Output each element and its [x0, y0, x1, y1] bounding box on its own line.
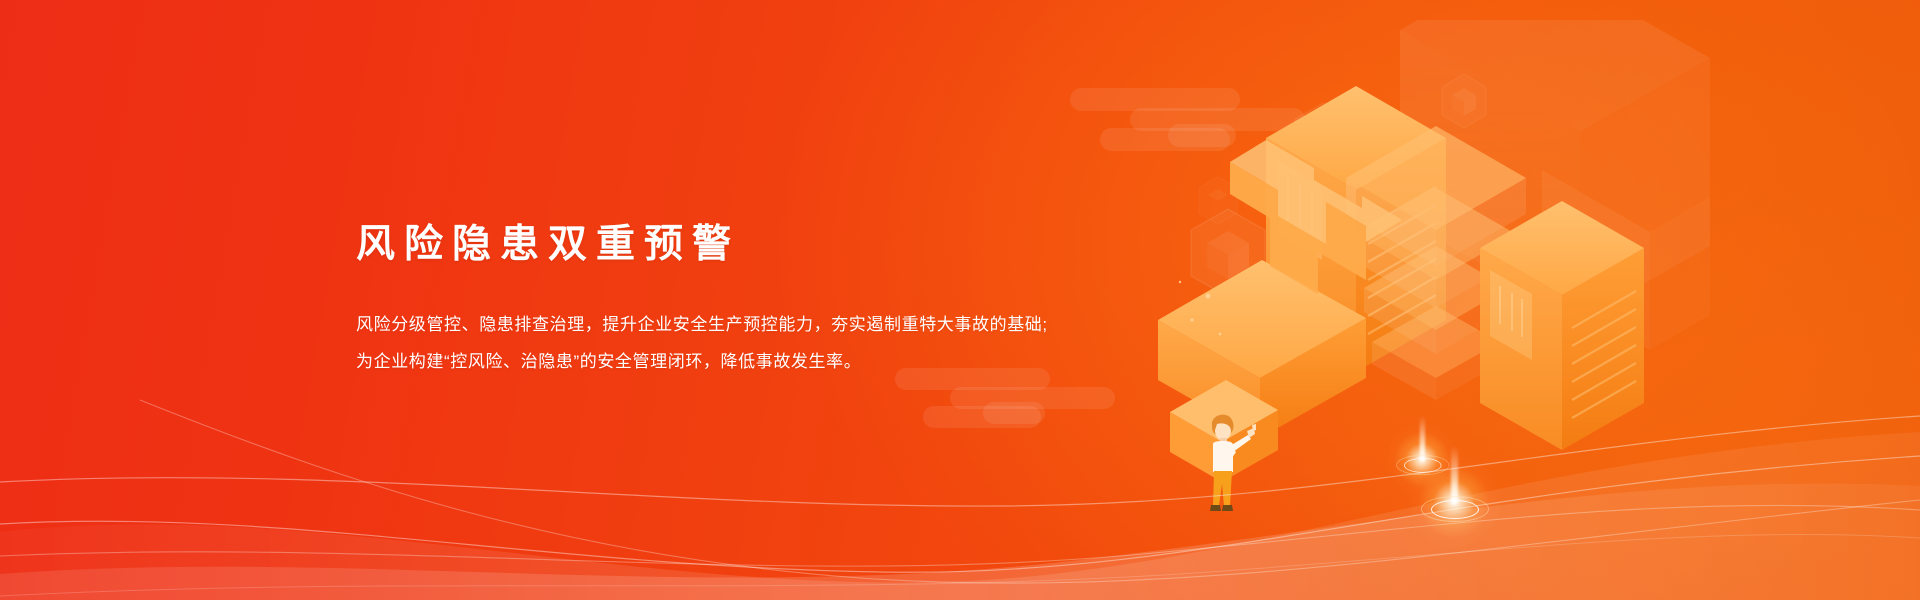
hero-copy: 风险隐患双重预警 风险分级管控、隐患排查治理，提升企业安全生产预控能力，夯实遏制…: [356, 222, 1156, 380]
hero-subtitle: 风险分级管控、隐患排查治理，提升企业安全生产预控能力，夯实遏制重特大事故的基础;…: [356, 306, 1156, 380]
page-title: 风险隐患双重预警: [356, 222, 1156, 268]
hero-subtitle-line-1: 风险分级管控、隐患排查治理，提升企业安全生产预控能力，夯实遏制重特大事故的基础;: [356, 306, 1156, 343]
wireframe-hexagon-icon: [1438, 72, 1490, 130]
wireframe-cube-icon: [1185, 205, 1271, 301]
wireframe-hexagon-icon: [1195, 175, 1241, 227]
glow-beacon-icon: [1406, 452, 1502, 548]
hero-subtitle-line-2: 为企业构建“控风险、治隐患”的安全管理闭环，降低事故发生率。: [356, 343, 1156, 380]
cloud-motif-icon: [1070, 88, 1320, 178]
hero-banner: 风险隐患双重预警 风险分级管控、隐患排查治理，提升企业安全生产预控能力，夯实遏制…: [0, 0, 1920, 600]
wireframe-hexagon-icon: [1290, 100, 1356, 174]
ribbon-waves-icon: [0, 360, 1920, 600]
isometric-server-towers-icon: [1150, 20, 1710, 490]
person-pointing-icon: [1202, 408, 1260, 520]
glow-beacon-icon: [1385, 421, 1460, 496]
